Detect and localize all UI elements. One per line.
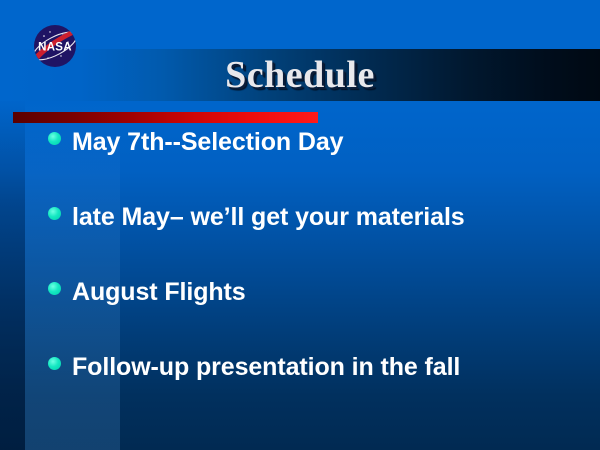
bullet-list: May 7th--Selection Day late May– we’ll g… xyxy=(48,128,580,428)
list-item: Follow-up presentation in the fall xyxy=(48,353,580,428)
list-item: May 7th--Selection Day xyxy=(48,128,580,203)
slide-title: Schedule xyxy=(0,52,600,98)
bullet-dot-icon xyxy=(48,207,61,220)
presentation-slide: NASA Schedule May 7th--Selection Day lat… xyxy=(0,0,600,450)
list-item: late May– we’ll get your materials xyxy=(48,203,580,278)
bullet-item-label: Follow-up presentation in the fall xyxy=(72,353,460,381)
bullet-dot-icon xyxy=(48,282,61,295)
bullet-dot-icon xyxy=(48,132,61,145)
bullet-item-label: May 7th--Selection Day xyxy=(72,128,343,156)
bullet-dot-icon xyxy=(48,357,61,370)
bullet-item-label: August Flights xyxy=(72,278,246,306)
bullet-item-label: late May– we’ll get your materials xyxy=(72,203,465,231)
list-item: August Flights xyxy=(48,278,580,353)
red-accent-bar xyxy=(13,112,318,123)
